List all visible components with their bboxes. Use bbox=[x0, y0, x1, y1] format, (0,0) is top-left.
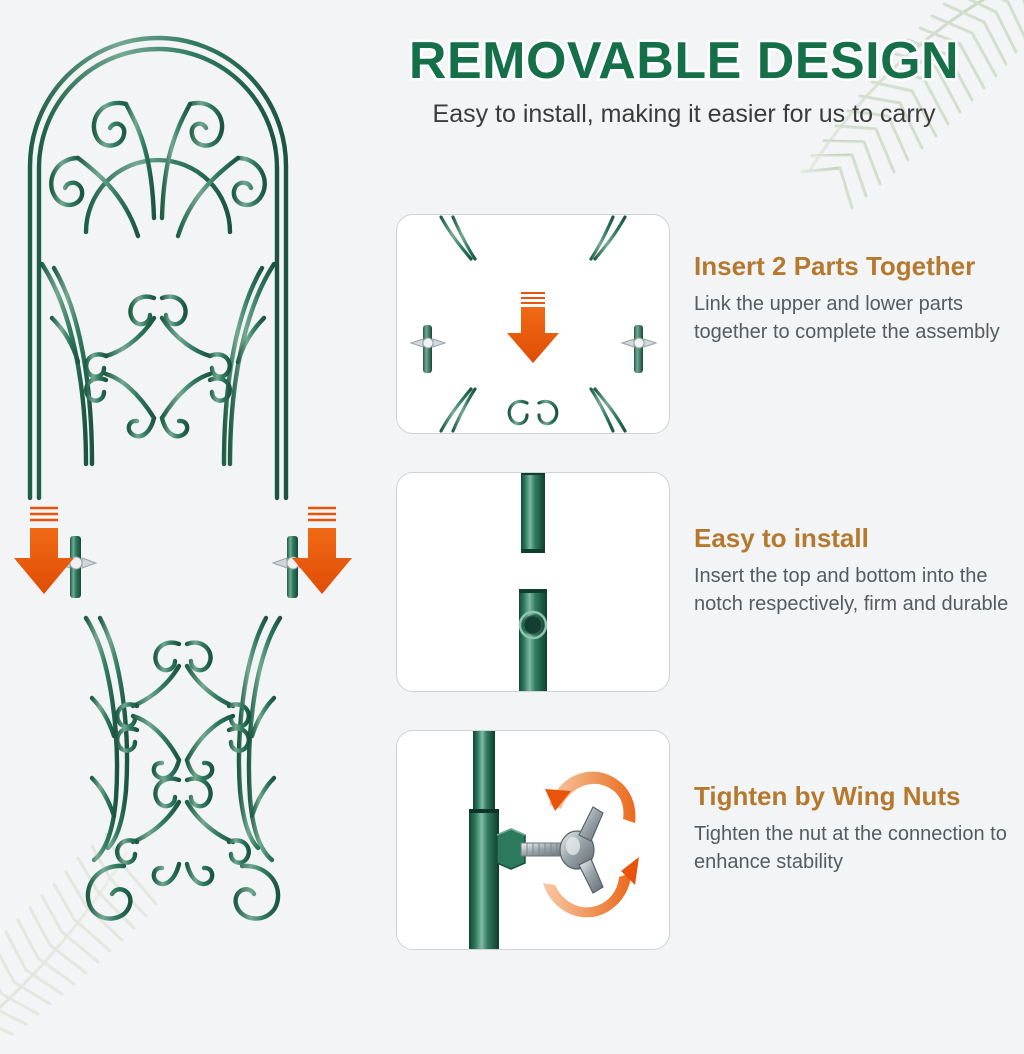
connector-left bbox=[411, 325, 445, 373]
feature-list: Insert 2 Parts Together Link the upper a… bbox=[396, 214, 1016, 950]
notch-hole-icon bbox=[520, 612, 546, 638]
upper-tube bbox=[521, 473, 545, 553]
feature-text: Insert 2 Parts Together Link the upper a… bbox=[670, 214, 1010, 347]
wing-nut-icon bbox=[560, 807, 603, 893]
page-subtitle: Easy to install, making it easier for us… bbox=[352, 99, 1016, 129]
feature-title: Tighten by Wing Nuts bbox=[694, 782, 1010, 812]
feature-illustration-card bbox=[396, 730, 670, 950]
down-arrow-icon bbox=[507, 293, 559, 363]
feature-title: Easy to install bbox=[694, 524, 1010, 554]
assembly-arrow-right-icon bbox=[292, 508, 352, 594]
illustration-two-tubes-with-notch-hole bbox=[397, 473, 669, 691]
infographic-canvas: REMOVABLE DESIGN Easy to install, making… bbox=[0, 0, 1024, 1024]
page-title: REMOVABLE DESIGN bbox=[352, 34, 1016, 89]
lower-tube bbox=[469, 809, 499, 949]
header-block: REMOVABLE DESIGN Easy to install, making… bbox=[352, 34, 1016, 129]
lower-tube bbox=[519, 589, 547, 691]
feature-text: Easy to install Insert the top and botto… bbox=[670, 472, 1010, 619]
feature-text: Tighten by Wing Nuts Tighten the nut at … bbox=[670, 730, 1010, 877]
upper-tube bbox=[473, 731, 495, 811]
feature-description: Tighten the nut at the connection to enh… bbox=[694, 820, 1010, 877]
feature-description: Insert the top and bottom into the notch… bbox=[694, 562, 1010, 619]
feature-easy-to-install: Easy to install Insert the top and botto… bbox=[396, 472, 1016, 692]
product-illustration-trellis bbox=[8, 18, 358, 1008]
feature-tighten-by-wing-nuts: Tighten by Wing Nuts Tighten the nut at … bbox=[396, 730, 1016, 950]
feature-illustration-card bbox=[396, 214, 670, 434]
feature-insert-2-parts-together: Insert 2 Parts Together Link the upper a… bbox=[396, 214, 1016, 434]
feature-title: Insert 2 Parts Together bbox=[694, 252, 1010, 282]
illustration-trellis-halves-with-down-arrow bbox=[397, 215, 669, 433]
feature-description: Link the upper and lower parts together … bbox=[694, 290, 1010, 347]
assembly-arrow-left-icon bbox=[14, 508, 74, 594]
illustration-wing-nut-with-rotation-arrows bbox=[397, 731, 669, 949]
feature-illustration-card bbox=[396, 472, 670, 692]
connector-right bbox=[622, 325, 656, 373]
